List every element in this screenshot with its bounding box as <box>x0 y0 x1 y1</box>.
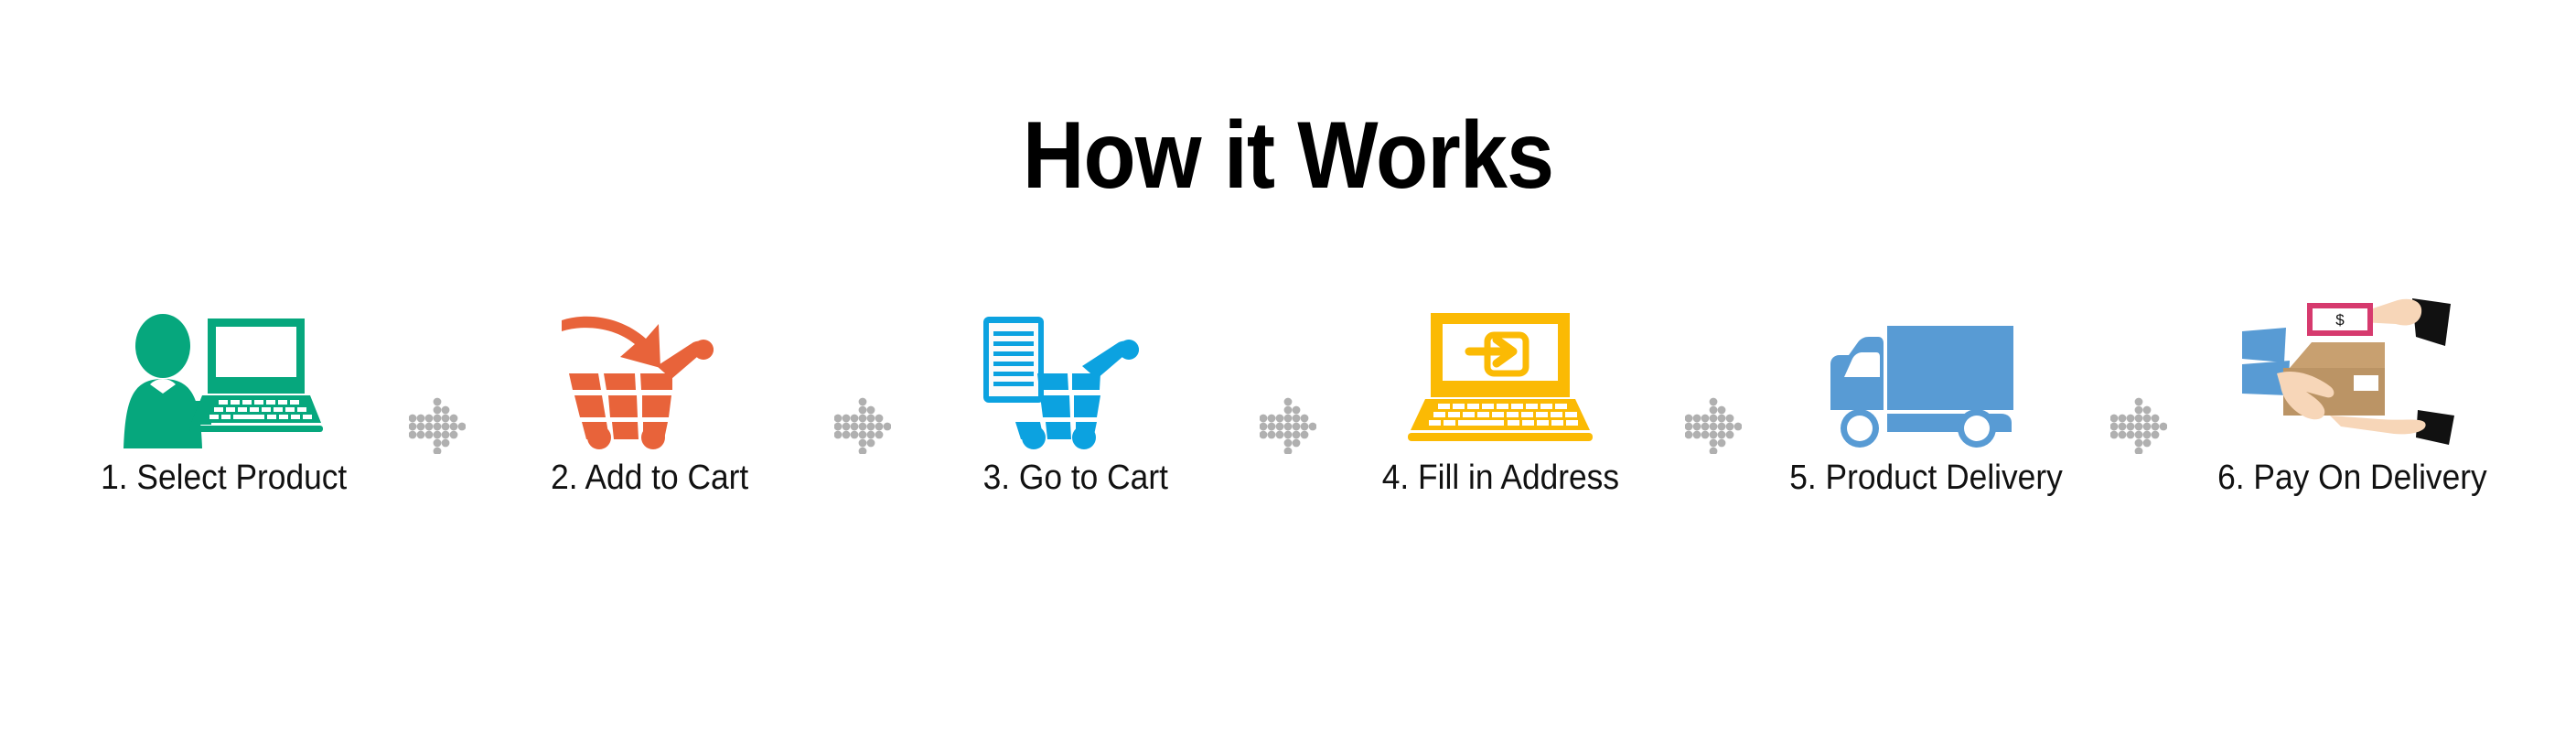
separator-1 <box>404 302 470 668</box>
sleeve-blue-upper-icon <box>2242 328 2286 362</box>
hands-box-money-icon: $ <box>2242 295 2462 448</box>
dotted-arrow-right-icon <box>834 397 891 454</box>
delivery-truck-icon <box>1821 311 2032 448</box>
step-6-pay-on-delivery[interactable]: $ <box>2173 302 2530 668</box>
step-6-label: 6. Pay On Delivery <box>2217 458 2487 498</box>
step-2-add-to-cart[interactable]: 2. Add to Cart <box>471 302 828 668</box>
step-5-icon-box <box>1748 302 2105 448</box>
person-laptop-icon <box>123 311 325 448</box>
money-symbol: $ <box>2335 311 2345 329</box>
step-4-fill-in-address[interactable]: 4. Fill in Address <box>1323 302 1680 668</box>
separator-4 <box>1680 302 1746 668</box>
step-2-label: 2. Add to Cart <box>551 458 748 498</box>
step-1-select-product[interactable]: 1. Select Product <box>46 302 402 668</box>
step-6-icon-box: $ <box>2173 302 2530 448</box>
page-title: How it Works <box>129 108 2447 203</box>
money-note-icon: $ <box>2310 306 2370 333</box>
step-2-icon-box <box>471 302 828 448</box>
dotted-arrow-right-icon <box>1685 397 1742 454</box>
cart-arrow-icon <box>558 311 741 448</box>
step-3-icon-box <box>896 302 1253 448</box>
box-lid-icon <box>2290 342 2385 368</box>
step-5-product-delivery[interactable]: 5. Product Delivery <box>1748 302 2105 668</box>
dotted-arrow-right-icon <box>1260 397 1316 454</box>
how-it-works-infographic: How it Works <box>0 0 2576 745</box>
step-1-label: 1. Select Product <box>101 458 347 498</box>
step-4-label: 4. Fill in Address <box>1382 458 1619 498</box>
document-cart-icon <box>983 311 1166 448</box>
separator-5 <box>2106 302 2172 668</box>
box-label-icon <box>2354 375 2378 391</box>
separator-3 <box>1255 302 1321 668</box>
step-1-icon-box <box>46 302 402 448</box>
dotted-arrow-right-icon <box>409 397 466 454</box>
step-3-label: 3. Go to Cart <box>982 458 1167 498</box>
laptop-login-icon <box>1405 311 1597 448</box>
steps-row: 1. Select Product <box>46 302 2530 686</box>
separator-2 <box>830 302 896 668</box>
step-5-label: 5. Product Delivery <box>1789 458 2063 498</box>
hand-bottom-icon <box>2330 416 2426 434</box>
dotted-arrow-right-icon <box>2110 397 2167 454</box>
step-4-icon-box <box>1323 302 1680 448</box>
step-3-go-to-cart[interactable]: 3. Go to Cart <box>896 302 1253 668</box>
